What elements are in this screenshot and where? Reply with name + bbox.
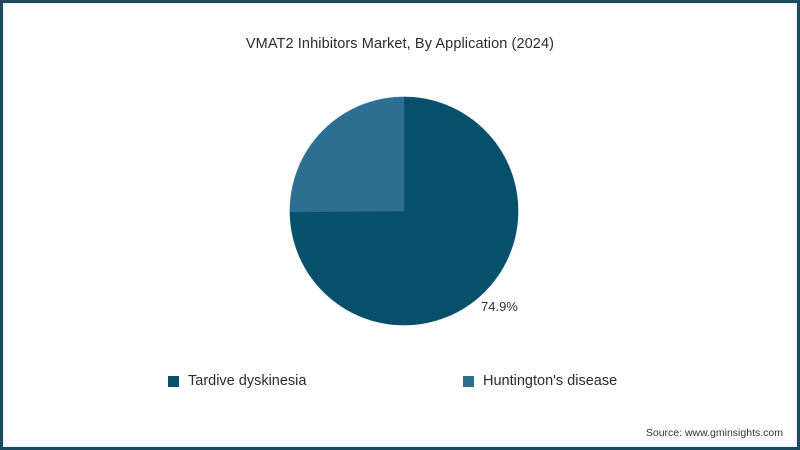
legend-swatch-icon [168,376,179,387]
chart-legend: Tardive dyskinesia Huntington's disease [3,369,797,393]
pie-chart-svg [287,94,521,328]
page-title: VMAT2 Inhibitors Market, By Application … [3,36,797,52]
legend-item-label: Tardive dyskinesia [188,373,306,389]
pie-slice[interactable] [290,97,404,212]
pie-slice-group [290,97,518,325]
legend-item-label: Huntington's disease [483,373,617,389]
chart-figure: VMAT2 Inhibitors Market, By Application … [0,0,800,450]
pie-chart [287,94,521,328]
legend-item-huntingtons-disease[interactable]: Huntington's disease [463,369,617,393]
source-attribution: Source: www.gminsights.com [646,427,783,439]
pie-slice-value-label: 74.9% [481,299,518,314]
legend-swatch-icon [463,376,474,387]
legend-item-tardive-dyskinesia[interactable]: Tardive dyskinesia [168,369,306,393]
